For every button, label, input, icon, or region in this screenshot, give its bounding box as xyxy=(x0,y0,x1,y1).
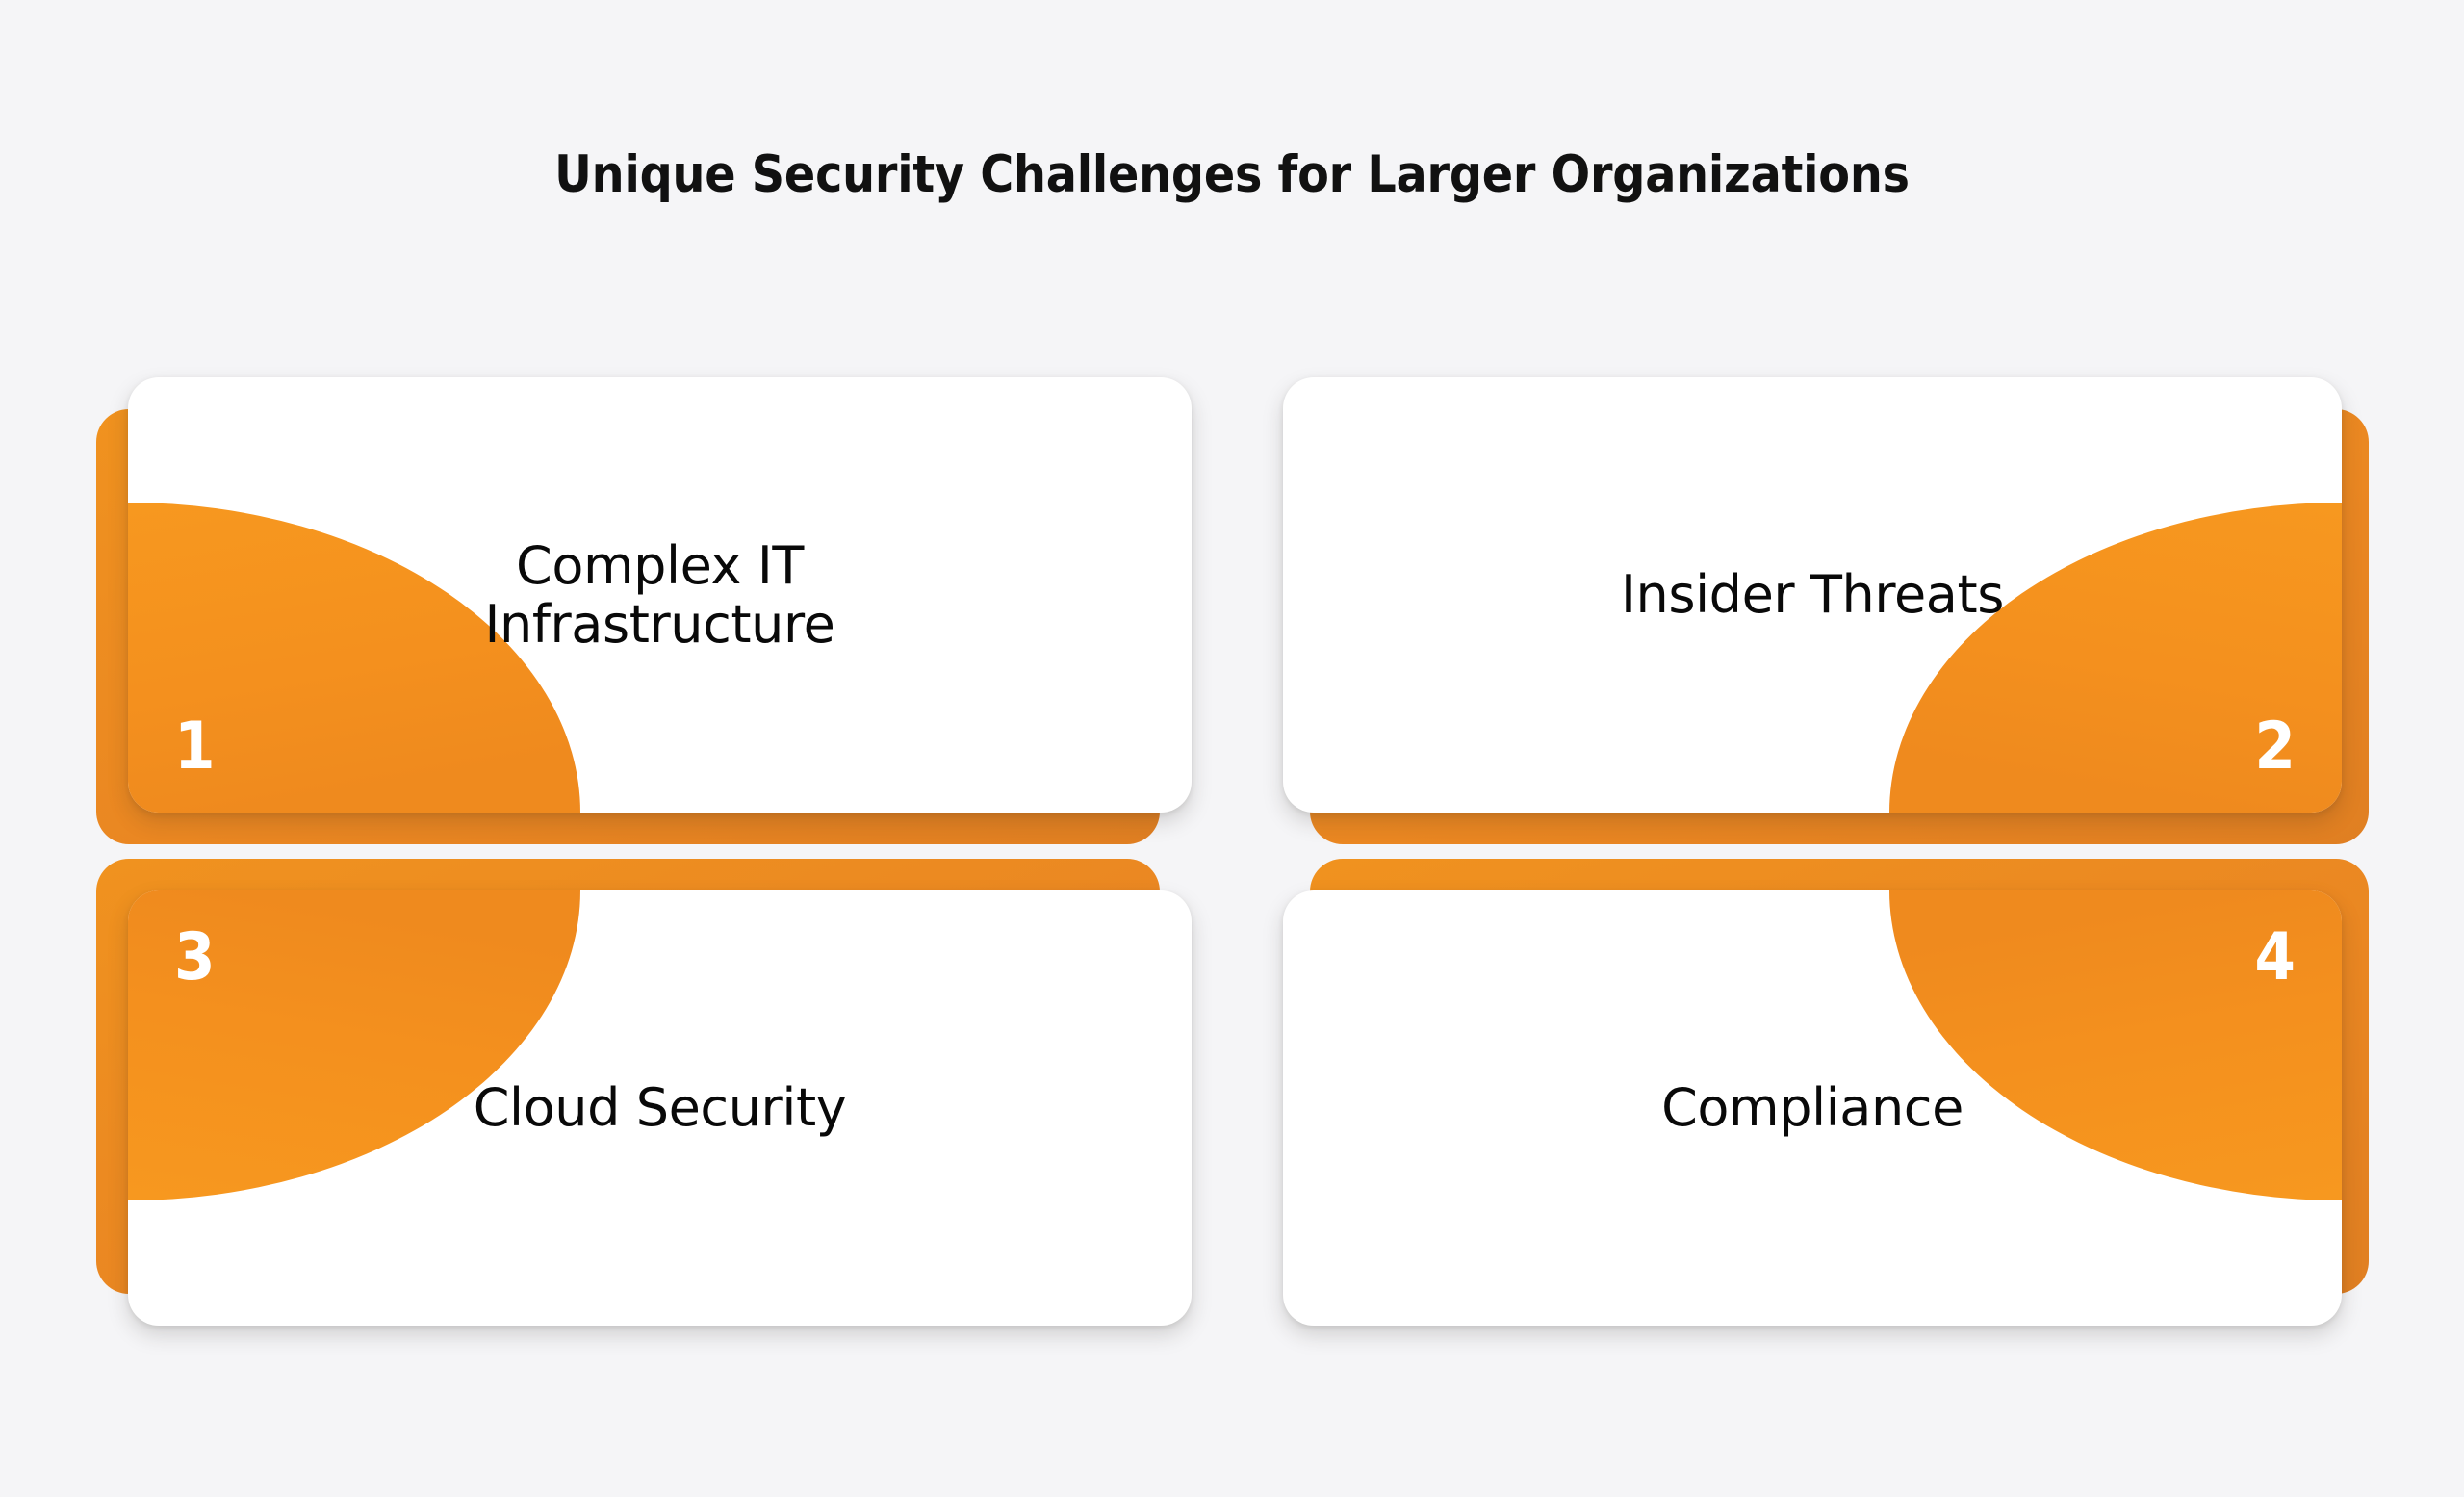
challenge-card-grid: Complex IT Infrastructure 1 Insider Thre… xyxy=(0,0,2464,1497)
challenge-card-2[interactable]: Insider Threats 2 xyxy=(1283,377,2342,813)
challenge-card-3[interactable]: Cloud Security 3 xyxy=(128,890,1192,1326)
card-4-corner-wedge-icon xyxy=(1283,890,2342,1326)
challenge-card-1[interactable]: Complex IT Infrastructure 1 xyxy=(128,377,1192,813)
card-2-corner-wedge-icon xyxy=(1283,377,2342,813)
card-1-corner-wedge-icon xyxy=(128,377,1192,813)
card-3-corner-wedge-icon xyxy=(128,890,1192,1326)
card-1-face[interactable]: Complex IT Infrastructure 1 xyxy=(128,377,1192,813)
challenge-card-4[interactable]: Compliance 4 xyxy=(1283,890,2342,1326)
card-4-face[interactable]: Compliance 4 xyxy=(1283,890,2342,1326)
card-3-face[interactable]: Cloud Security 3 xyxy=(128,890,1192,1326)
card-2-face[interactable]: Insider Threats 2 xyxy=(1283,377,2342,813)
